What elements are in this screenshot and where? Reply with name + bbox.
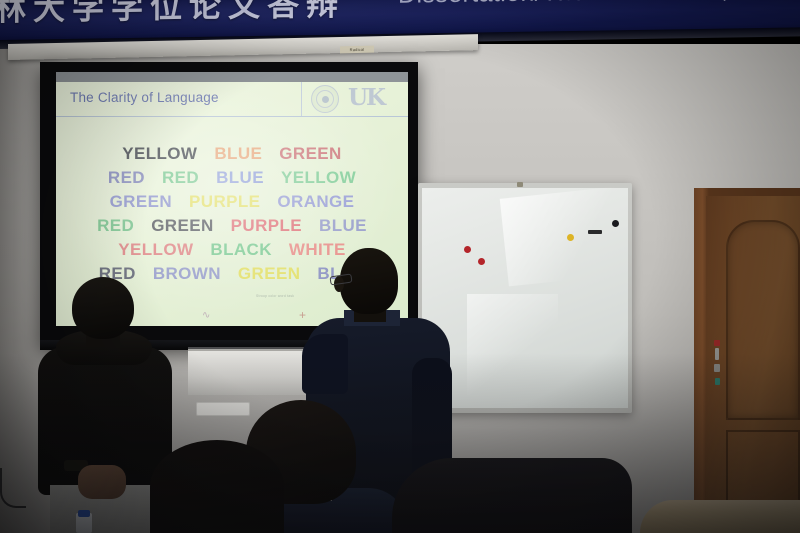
slide-header-divider	[301, 82, 302, 116]
whiteboard-mark-left: ∿	[202, 310, 224, 320]
whiteboard-mark-right: +	[299, 308, 306, 322]
banner-english-text: Dissertation/Thesis Defense,...	[398, 0, 751, 10]
stroop-word: YELLOW	[122, 144, 197, 164]
stroop-word: ORANGE	[277, 192, 354, 212]
stroop-row: GREENPURPLEORANGE	[56, 192, 408, 212]
yellow-magnet	[567, 234, 574, 241]
stroop-row: REDGREENPURPLEBLUE	[56, 216, 408, 236]
stroop-word: PURPLE	[231, 216, 302, 236]
stroop-row: REDREDBLUEYELLOW	[56, 168, 408, 188]
black-magnet	[612, 220, 619, 227]
red-magnet-2	[478, 258, 485, 265]
red-magnet-1	[464, 246, 471, 253]
room-shadow-bottom	[0, 353, 800, 533]
slide-header-rule	[56, 116, 408, 117]
hoodie-head	[72, 277, 134, 339]
housing-brand-label: Radical	[340, 46, 374, 54]
stroop-word: RED	[162, 168, 199, 188]
stroop-word: YELLOW	[118, 240, 193, 260]
stroop-word: RED	[97, 216, 134, 236]
stroop-word: GREEN	[151, 216, 213, 236]
slide-footer-text: Stroop color word task	[256, 294, 294, 298]
banner-chinese-text: 林大学学位论文答辩	[0, 0, 345, 30]
uk-logo: UK	[348, 84, 384, 111]
stroop-word: BLUE	[214, 144, 262, 164]
university-seal-icon	[311, 85, 339, 113]
stroop-word: BLUE	[216, 168, 264, 188]
stroop-word: RED	[108, 168, 145, 188]
stroop-word: GREEN	[279, 144, 341, 164]
stroop-word: GREEN	[238, 264, 300, 284]
stroop-word: YELLOW	[281, 168, 356, 188]
slide-title: The Clarity of Language	[70, 90, 219, 105]
presentation-room-scene: 林大学学位论文答辩 Dissertation/Thesis Defense,..…	[0, 0, 800, 533]
whiteboard-clip	[517, 182, 523, 187]
stroop-word: GREEN	[110, 192, 172, 212]
stroop-word: BLUE	[319, 216, 367, 236]
stroop-row: YELLOWBLUEGREEN	[56, 144, 408, 164]
stroop-word: PURPLE	[189, 192, 260, 212]
board-marker	[588, 230, 602, 234]
stroop-word: BLACK	[210, 240, 272, 260]
